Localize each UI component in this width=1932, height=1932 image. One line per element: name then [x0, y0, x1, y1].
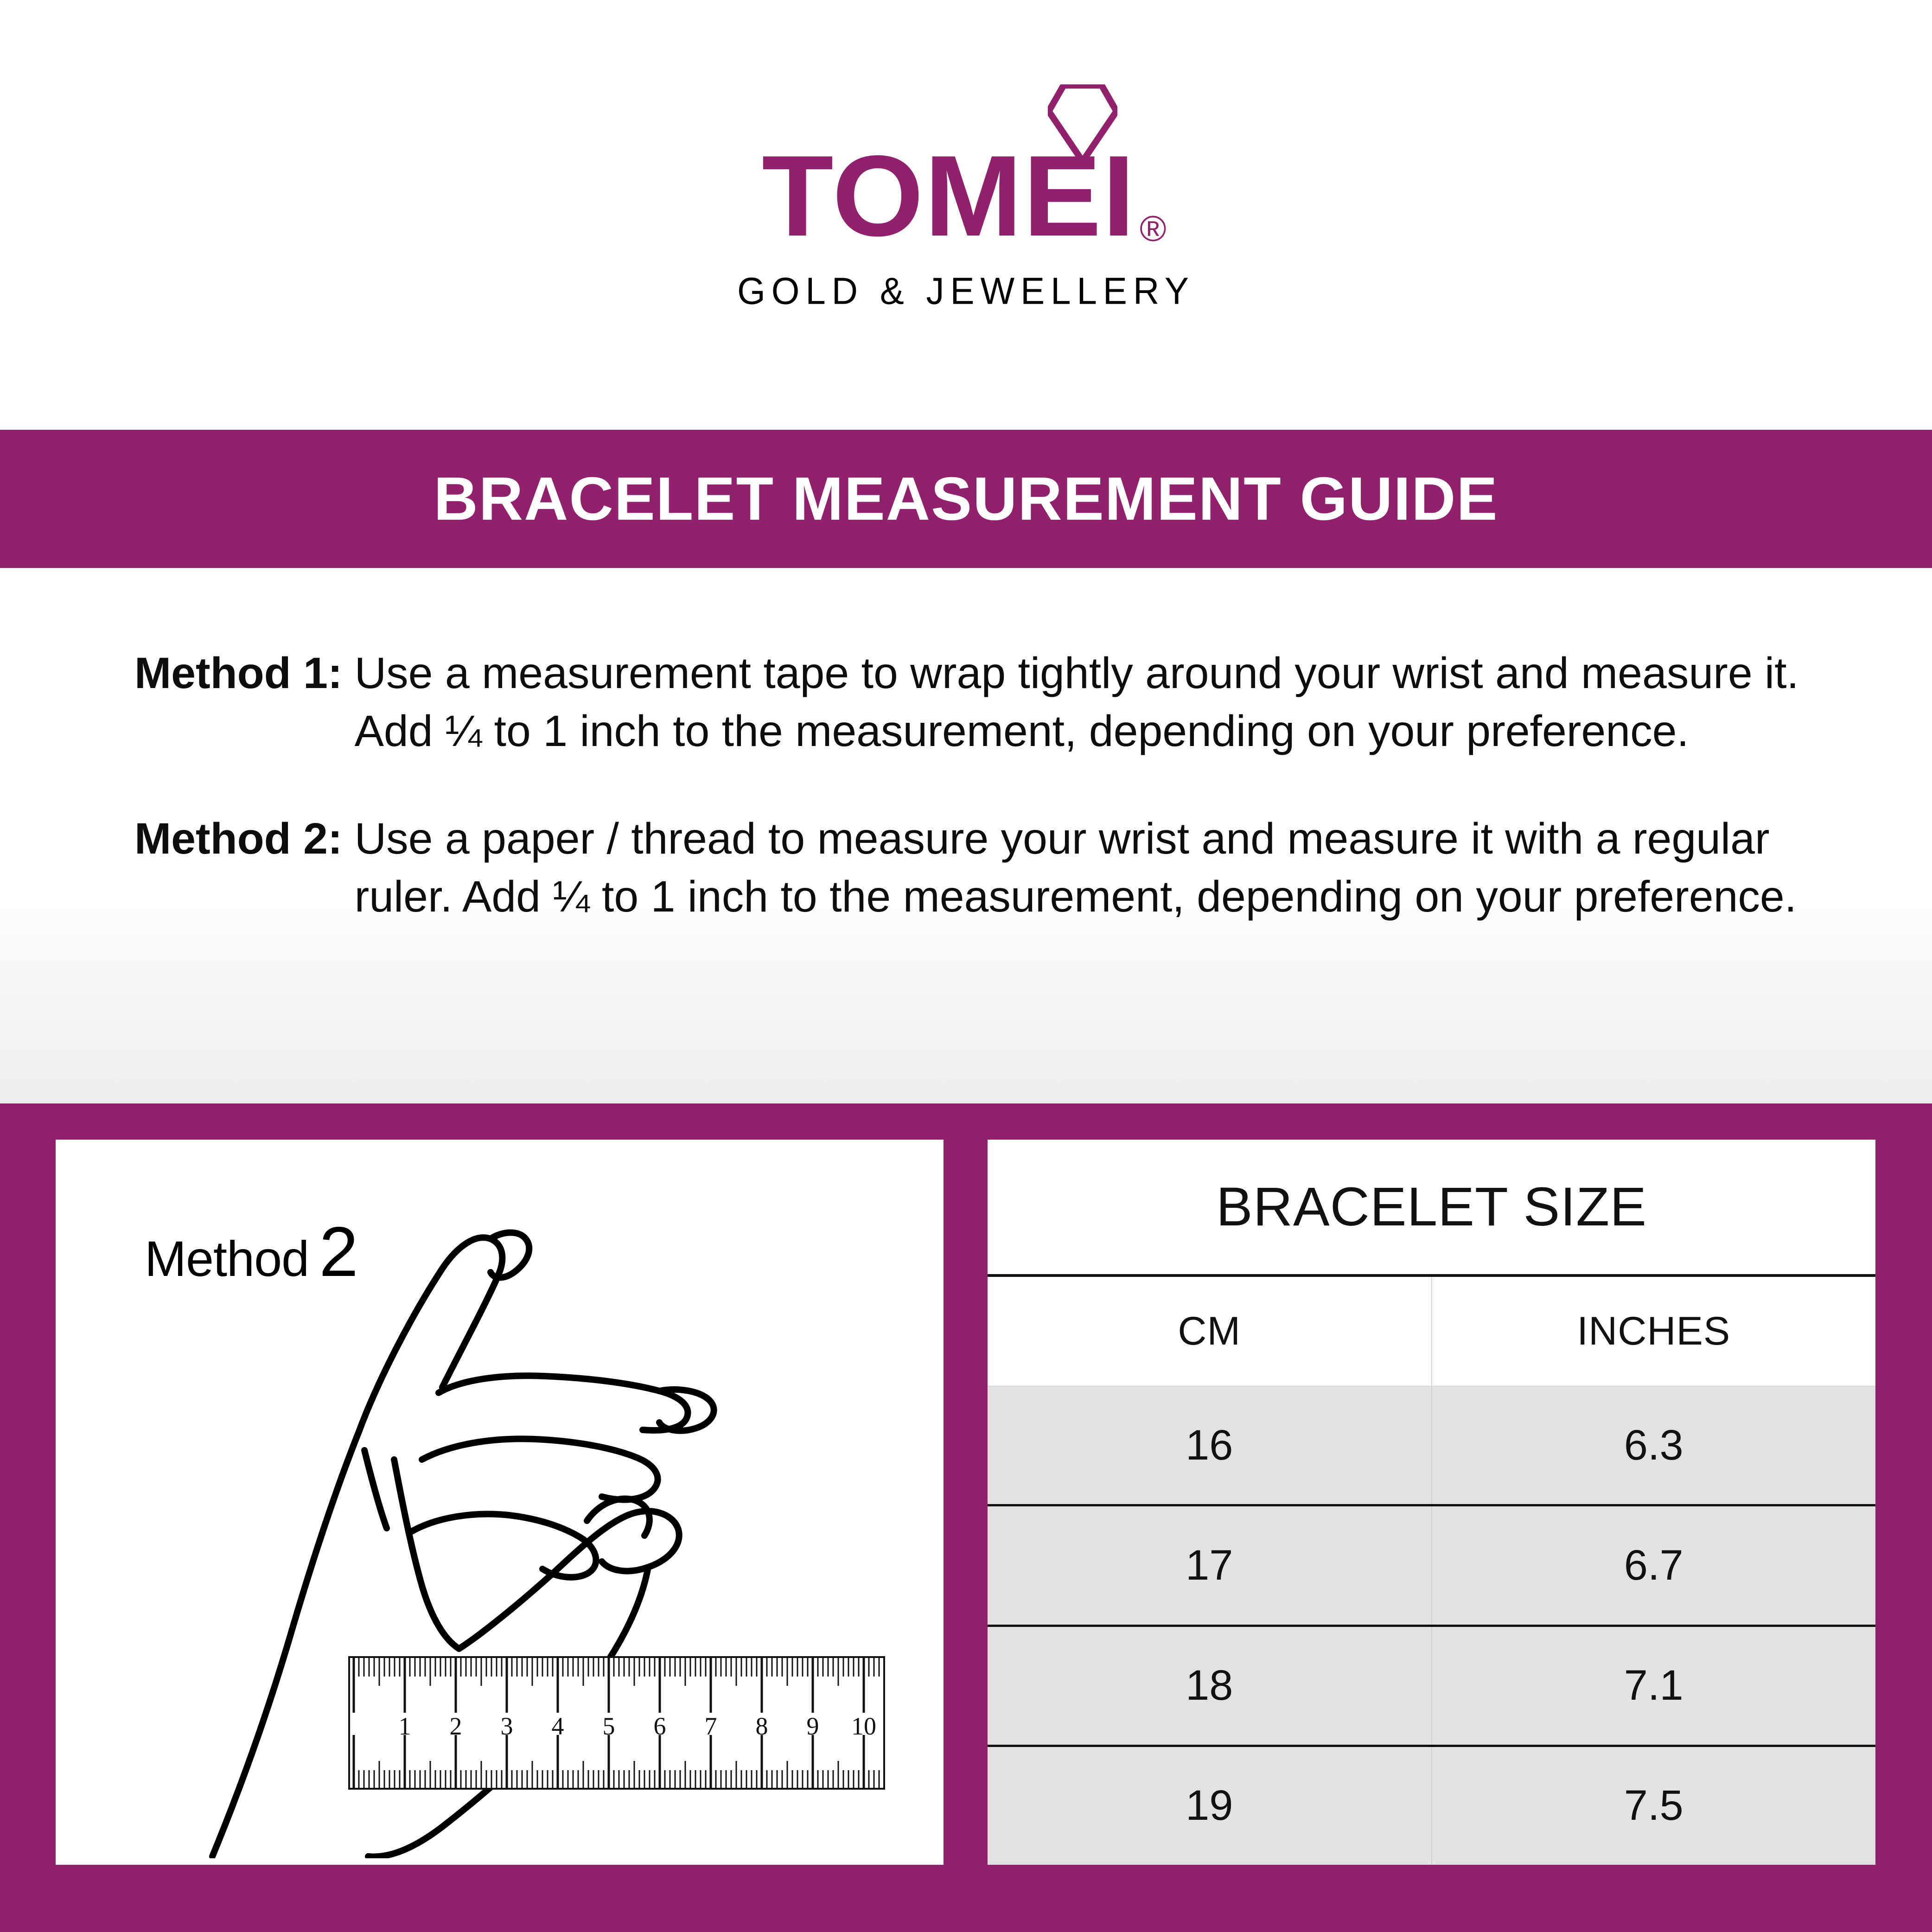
method-2-label: Method 2:	[134, 810, 355, 868]
logo-header: TOMEI ® GOLD & JEWELLERY	[0, 0, 1932, 430]
method-1-label: Method 1:	[134, 644, 355, 702]
method-1-row: Method 1: Use a measurement tape to wrap…	[134, 644, 1821, 761]
method-2-text: Use a paper / thread to measure your wri…	[355, 810, 1821, 926]
cell-cm: 16	[988, 1386, 1431, 1504]
size-table-title: BRACELET SIZE	[988, 1140, 1875, 1277]
ruler-tick-6: 6	[654, 1712, 666, 1740]
methods-section: Method 1: Use a measurement tape to wrap…	[0, 568, 1932, 1103]
size-table-body: 16 6.3 17 6.7 18 7.1 19 7.5	[988, 1386, 1875, 1865]
logo-wordmark-row: TOMEI ®	[765, 138, 1166, 253]
cell-cm: 17	[988, 1506, 1431, 1624]
ruler-illustration-icon: 1 2 3 4 5 6 7 8 9 10	[345, 1653, 888, 1792]
ruler-tick-5: 5	[603, 1712, 615, 1740]
cell-cm: 19	[988, 1747, 1431, 1865]
cell-inches: 7.1	[1431, 1627, 1876, 1745]
ruler-tick-8: 8	[756, 1712, 768, 1740]
registered-trademark-icon: ®	[1140, 210, 1166, 247]
method-1-text: Use a measurement tape to wrap tightly a…	[355, 644, 1821, 761]
ruler-tick-2: 2	[450, 1712, 462, 1740]
ruler-tick-3: 3	[501, 1712, 513, 1740]
table-row: 18 7.1	[988, 1627, 1875, 1747]
ruler-tick-4: 4	[552, 1712, 564, 1740]
bracelet-size-table: BRACELET SIZE CM INCHES 16 6.3 17 6.7 18…	[988, 1140, 1875, 1865]
method-2-row: Method 2: Use a paper / thread to measur…	[134, 810, 1821, 926]
ruler-tick-7: 7	[705, 1712, 717, 1740]
ruler-tick-10: 10	[851, 1712, 876, 1740]
ruler-tick-9: 9	[807, 1712, 819, 1740]
page-title: BRACELET MEASUREMENT GUIDE	[434, 468, 1498, 529]
cell-inches: 6.7	[1431, 1506, 1876, 1624]
table-row: 16 6.3	[988, 1386, 1875, 1506]
table-row: 17 6.7	[988, 1506, 1875, 1626]
column-header-cm: CM	[988, 1277, 1431, 1386]
brand-tagline: GOLD & JEWELLERY	[737, 269, 1195, 313]
column-header-inches: INCHES	[1431, 1277, 1876, 1386]
page-title-banner: BRACELET MEASUREMENT GUIDE	[0, 430, 1932, 568]
method-2-illustration-panel: Method 2	[56, 1140, 944, 1865]
cell-inches: 6.3	[1431, 1386, 1876, 1504]
brand-logo: TOMEI ® GOLD & JEWELLERY	[737, 138, 1195, 312]
table-row: 19 7.5	[988, 1747, 1875, 1865]
cell-cm: 18	[988, 1627, 1431, 1745]
size-table-header-row: CM INCHES	[988, 1277, 1875, 1386]
diamond-gem-icon	[1048, 84, 1117, 163]
cell-inches: 7.5	[1431, 1747, 1876, 1865]
ruler-tick-1: 1	[399, 1712, 411, 1740]
